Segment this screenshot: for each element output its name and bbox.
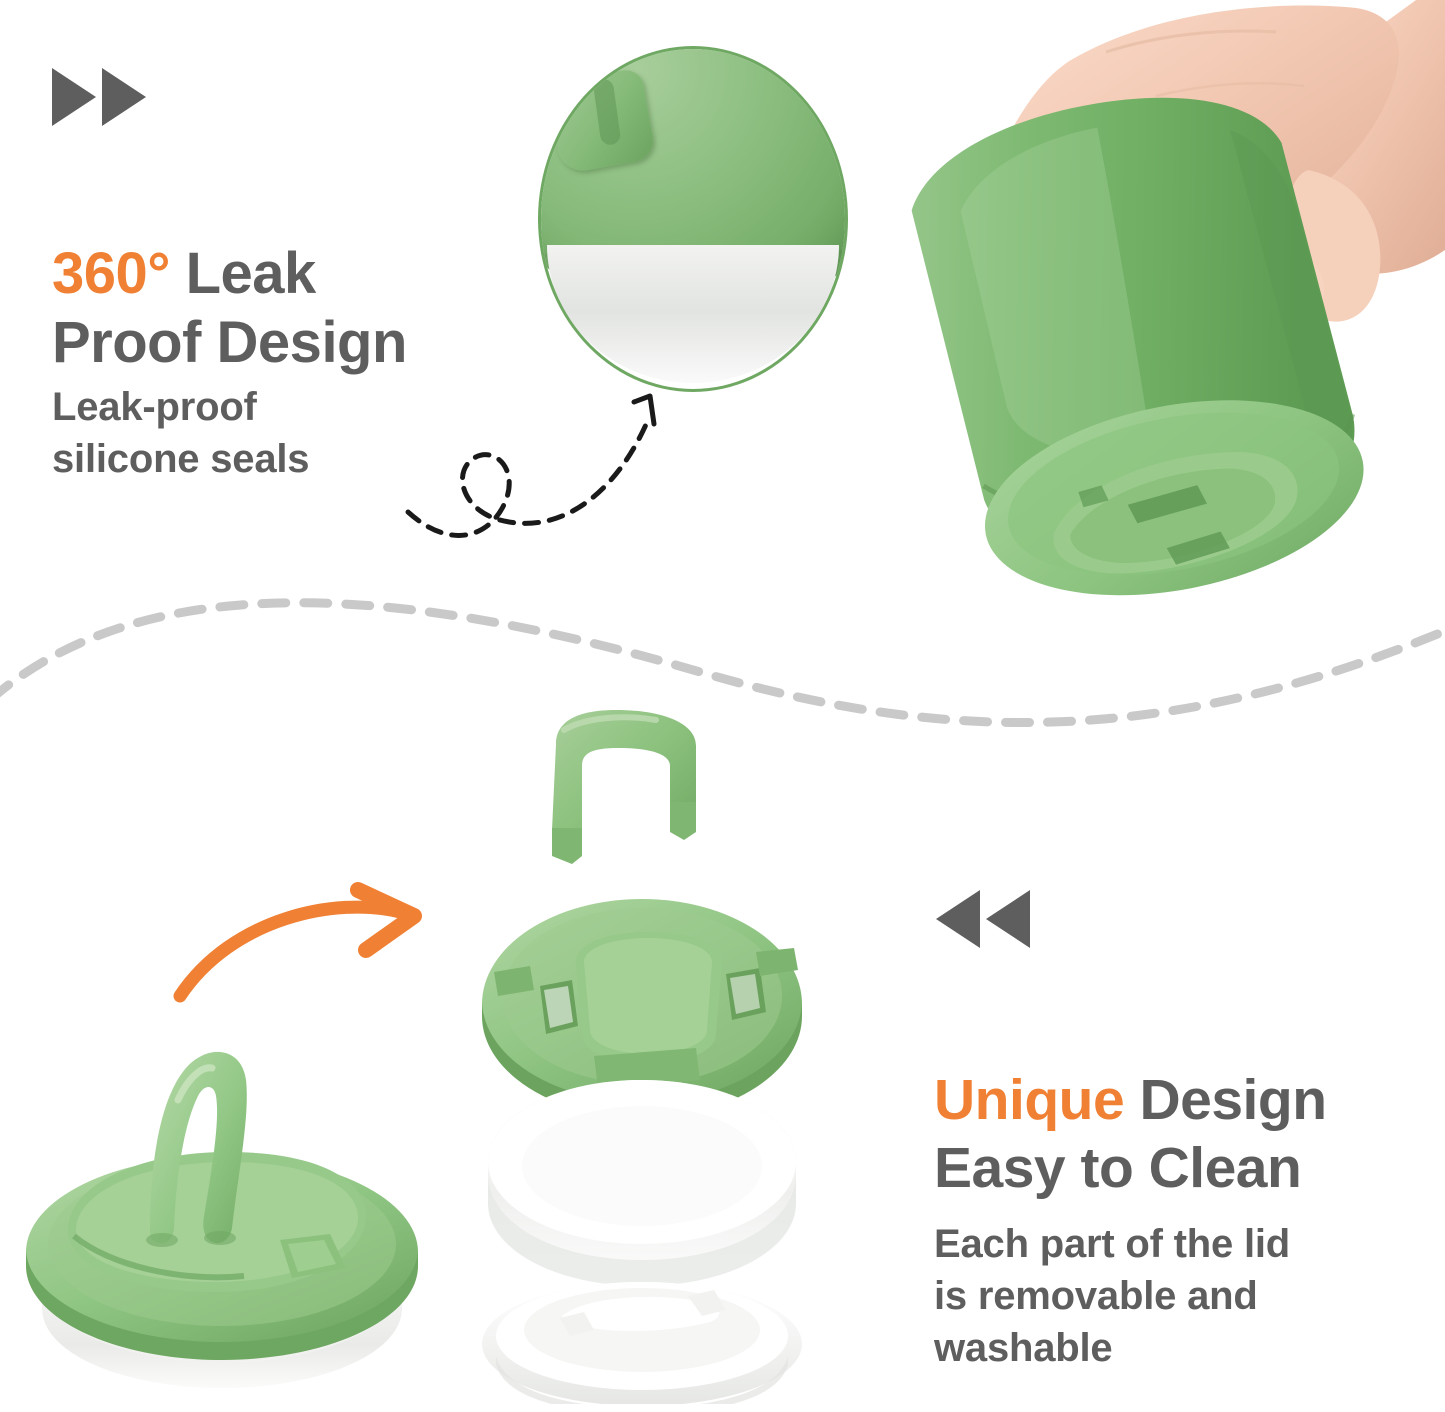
fast-forward-icon <box>52 66 148 128</box>
headline-accent-360: 360° <box>52 241 170 306</box>
headline-accent-unique: Unique <box>934 1068 1124 1132</box>
subtext-leak-proof: Leak-proof silicone seals <box>52 381 309 485</box>
infographic-page: 360° Leak Proof Design Leak-proof silico… <box>0 0 1445 1412</box>
orange-curved-arrow <box>180 890 414 996</box>
silicone-seal-disc-white-shape <box>482 1282 802 1404</box>
page-title-leak-proof: 360° Leak Proof Design <box>52 172 407 377</box>
dashed-loop-arrow <box>408 396 654 535</box>
lid-closeup-inset-image <box>538 46 848 392</box>
subtext-unique-design: Each part of the lid is removable and wa… <box>934 1218 1290 1374</box>
silicone-ring-white-shape <box>488 1080 796 1286</box>
page-title-unique-design: Unique Design Easy to Clean <box>934 1000 1327 1202</box>
hand-holding-bottle-image <box>856 0 1445 672</box>
lid-assembled-image <box>6 1040 438 1408</box>
lid-handle-clip-shape <box>552 710 696 864</box>
silicone-seal-white-shape <box>547 245 839 383</box>
rewind-icon <box>934 888 1030 950</box>
lid-exploded-view-image <box>444 704 840 1404</box>
